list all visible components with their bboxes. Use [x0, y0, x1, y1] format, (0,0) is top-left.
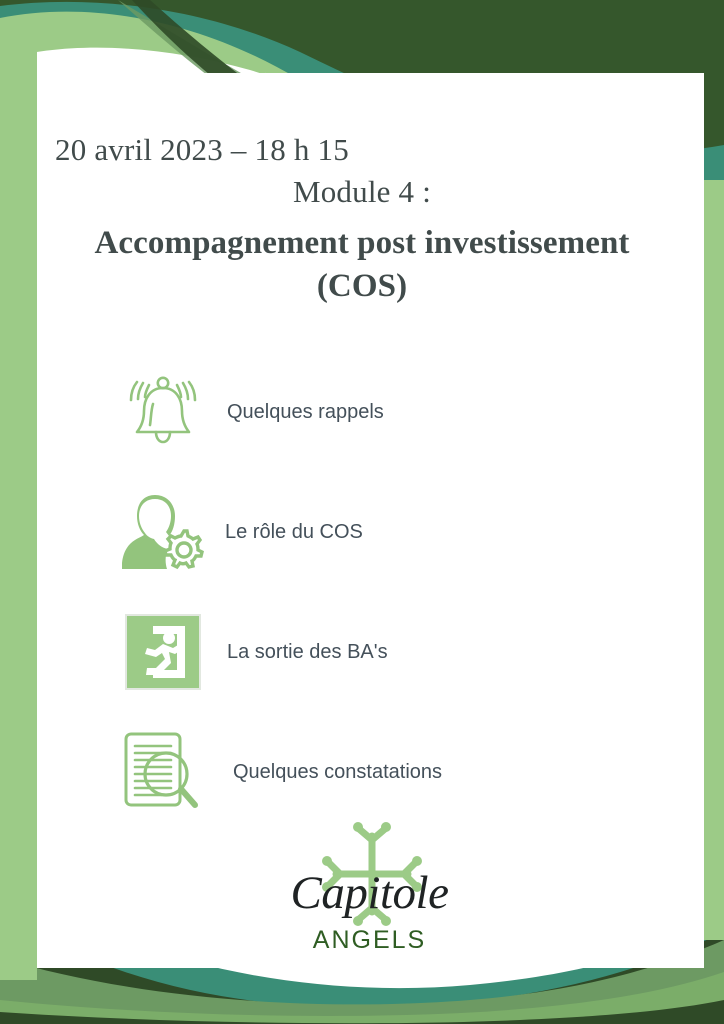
wave-bottom-dark-base — [0, 1000, 724, 1024]
title-block: 20 avril 2023 – 18 h 15 Module 4 : Accom… — [37, 130, 687, 308]
agenda-item[interactable]: Le rôle du COS — [37, 472, 687, 592]
agenda-item-label: Le rôle du COS — [225, 521, 363, 544]
slide-canvas: 20 avril 2023 – 18 h 15 Module 4 : Accom… — [0, 0, 724, 1024]
bell-icon — [115, 369, 211, 455]
agenda-list: Quelques rappels Le rôle du COS — [37, 352, 687, 832]
agenda-item[interactable]: Quelques rappels — [37, 352, 687, 472]
right-edge-band — [704, 180, 724, 940]
document-magnifier-icon — [115, 729, 211, 815]
logo: Capitole ANGELS — [282, 822, 457, 950]
agenda-item[interactable]: Quelques constatations — [37, 712, 687, 832]
logo-script-text: Capitole — [282, 866, 457, 920]
left-edge-band — [0, 30, 37, 980]
person-gear-icon — [115, 489, 211, 575]
agenda-item-label: Quelques constatations — [233, 761, 442, 784]
subject-title-line-2: (COS) — [37, 265, 687, 308]
subject-title: Accompagnement post investissement (COS) — [37, 222, 687, 308]
agenda-item[interactable]: La sortie des BA's — [37, 592, 687, 712]
date-time-line: 20 avril 2023 – 18 h 15 — [37, 130, 687, 170]
emergency-exit-icon — [115, 609, 211, 695]
logo-wordmark: ANGELS — [282, 926, 457, 955]
subject-title-line-1: Accompagnement post investissement — [37, 222, 687, 265]
agenda-item-label: Quelques rappels — [227, 401, 384, 424]
wave-bottom-light-green — [0, 972, 724, 1024]
module-line: Module 4 : — [37, 170, 687, 214]
agenda-item-label: La sortie des BA's — [227, 641, 388, 664]
